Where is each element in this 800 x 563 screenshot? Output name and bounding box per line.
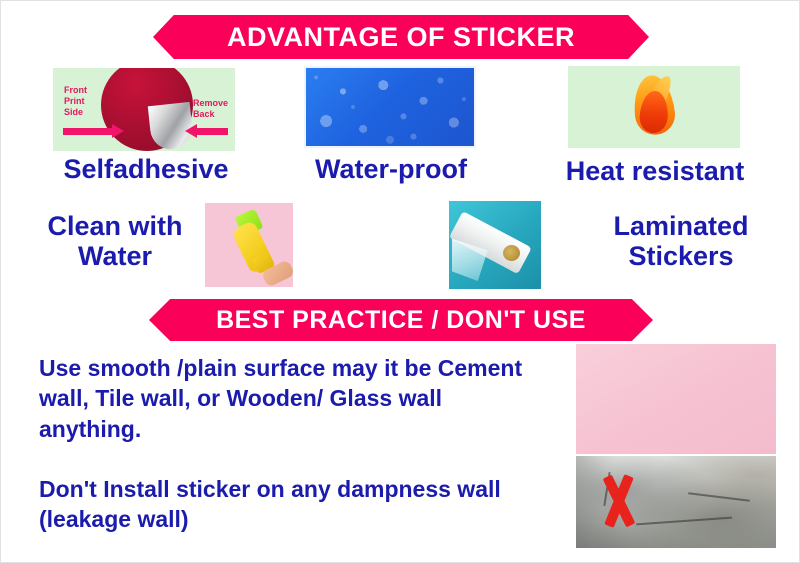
infographic-page: ADVANTAGE OF STICKER Front Print Side Re… — [0, 0, 800, 563]
banner-advantage-of-sticker: ADVANTAGE OF STICKER — [153, 15, 649, 59]
dont-use-text: Don't Install sticker on any dampness wa… — [39, 474, 549, 535]
feature-label-clean-with-water: Clean with Water — [29, 211, 201, 271]
best-practice-text: Use smooth /plain surface may it be Ceme… — [39, 353, 549, 444]
yellow-glove-cleaning-photo — [205, 203, 293, 287]
flame-icon — [628, 75, 680, 139]
damp-cracked-wall-photo — [576, 456, 776, 548]
smooth-pink-wall-photo — [576, 344, 776, 454]
film-roll-core — [503, 245, 520, 261]
banner-best-practice-dont-use: BEST PRACTICE / DON'T USE — [149, 299, 653, 341]
callout-front-print-side: Front Print Side — [64, 85, 87, 118]
callout-remove-back: Remove Back — [193, 98, 228, 120]
feature-label-laminated-stickers: Laminated Stickers — [581, 211, 781, 271]
red-x-mark-icon — [598, 478, 638, 526]
arrow-left-icon — [196, 128, 228, 135]
lamination-film-roll-photo — [449, 201, 541, 289]
flame-icon-panel — [568, 66, 740, 148]
arrow-right-icon — [63, 128, 113, 135]
water-droplets-photo — [304, 66, 476, 148]
feature-label-selfadhesive: Selfadhesive — [41, 154, 251, 184]
selfadhesive-sticker-diagram: Front Print Side Remove Back — [53, 68, 235, 151]
wall-crack-line — [636, 517, 732, 526]
wall-crack-line — [688, 492, 750, 502]
feature-label-water-proof: Water-proof — [296, 154, 486, 184]
feature-label-heat-resistant: Heat resistant — [549, 156, 761, 186]
